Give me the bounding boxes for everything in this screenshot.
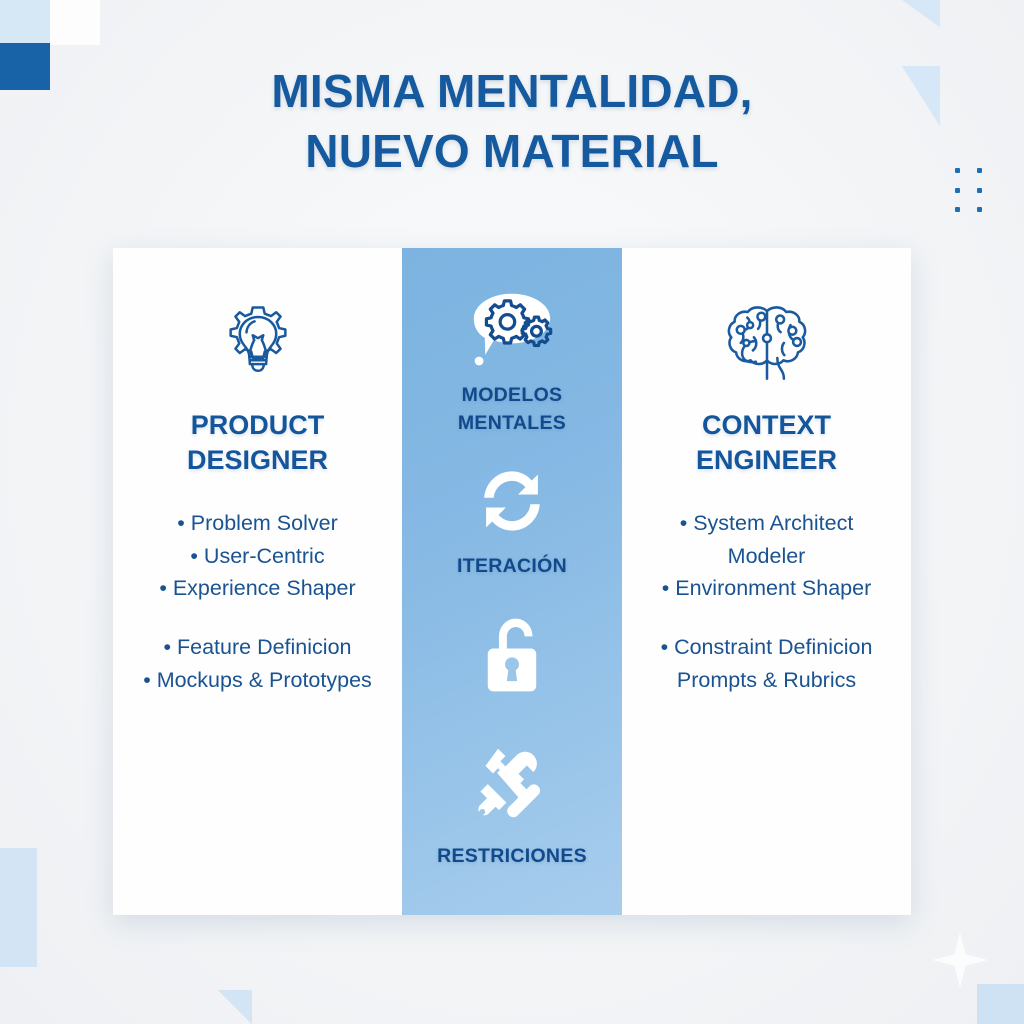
- page-title-line-2: NUEVO MATERIAL: [0, 122, 1024, 182]
- middle-item-restricciones: RESTRICIONES: [414, 737, 610, 871]
- column-title-line-2: ENGINEER: [640, 443, 893, 478]
- middle-item-padlock: [414, 607, 610, 703]
- middle-label-line-1: ITERACIÓN: [414, 553, 610, 581]
- middle-label-iteracion: ITERACIÓN: [414, 553, 610, 581]
- column-title-line-1: CONTEXT: [640, 408, 893, 443]
- speech-bubble-gears-icon: [414, 288, 610, 372]
- list-item: • Environment Shaper: [640, 572, 893, 605]
- infographic-canvas: MISMA MENTALIDAD, NUEVO MATERIAL PRODUCT: [0, 0, 1024, 1024]
- list-item: Prompts & Rubrics: [640, 664, 893, 697]
- column-title-context-engineer: CONTEXT ENGINEER: [640, 408, 893, 477]
- page-title: MISMA MENTALIDAD, NUEVO MATERIAL: [0, 62, 1024, 182]
- list-item: Modeler: [640, 540, 893, 573]
- decor-dot: [977, 207, 982, 212]
- list-item: • Problem Solver: [131, 507, 384, 540]
- middle-label-line-1: MODELOS: [414, 382, 610, 410]
- column-title-product-designer: PRODUCT DESIGNER: [131, 408, 384, 477]
- decor-sparkle-icon: [932, 932, 988, 988]
- padlock-icon: [414, 607, 610, 703]
- refresh-cycle-icon: [414, 459, 610, 543]
- middle-label-restricciones: RESTRICIONES: [414, 843, 610, 871]
- comparison-card: PRODUCT DESIGNER • Problem Solver • User…: [113, 248, 911, 915]
- middle-item-modelos-mentales: MODELOS MENTALES: [414, 288, 610, 437]
- middle-item-iteracion: ITERACIÓN: [414, 459, 610, 581]
- list-item: • Experience Shaper: [131, 572, 384, 605]
- decor-dot: [955, 188, 960, 193]
- decor-triangle-top-right-upper: [902, 0, 940, 27]
- list-item: • User-Centric: [131, 540, 384, 573]
- bullet-group-right-1: • System Architect Modeler • Environment…: [640, 507, 893, 605]
- lightbulb-gear-icon: [131, 290, 384, 394]
- middle-label-line-1: RESTRICIONES: [414, 843, 610, 871]
- middle-label-modelos-mentales: MODELOS MENTALES: [414, 382, 610, 437]
- decor-triangle-bottom-center: [218, 990, 252, 1024]
- brain-network-icon: [640, 290, 893, 394]
- bullet-group-left-1: • Problem Solver • User-Centric • Experi…: [131, 507, 384, 605]
- decor-rectangle-bottom-left: [0, 848, 37, 967]
- decor-square-white-top-left: [50, 0, 100, 45]
- decor-square-light-blue-top-left: [0, 0, 50, 43]
- list-item: • Mockups & Prototypes: [131, 664, 384, 697]
- column-title-line-2: DESIGNER: [131, 443, 384, 478]
- decor-dot: [977, 188, 982, 193]
- bullet-group-left-2: • Feature Definicion • Mockups & Prototy…: [131, 631, 384, 696]
- decor-dot: [955, 207, 960, 212]
- column-title-line-1: PRODUCT: [131, 408, 384, 443]
- decor-square-bottom-right: [977, 984, 1024, 1024]
- hammer-tools-icon: [414, 737, 610, 833]
- list-item: • Feature Definicion: [131, 631, 384, 664]
- middle-label-line-2: MENTALES: [414, 410, 610, 438]
- column-context-engineer: CONTEXT ENGINEER • System Architect Mode…: [622, 248, 911, 915]
- column-middle-shared: MODELOS MENTALES ITERACIÓN: [402, 248, 622, 915]
- page-title-line-1: MISMA MENTALIDAD,: [0, 62, 1024, 122]
- bullet-group-right-2: • Constraint Definicion Prompts & Rubric…: [640, 631, 893, 696]
- list-item: • System Architect: [640, 507, 893, 540]
- column-product-designer: PRODUCT DESIGNER • Problem Solver • User…: [113, 248, 402, 915]
- list-item: • Constraint Definicion: [640, 631, 893, 664]
